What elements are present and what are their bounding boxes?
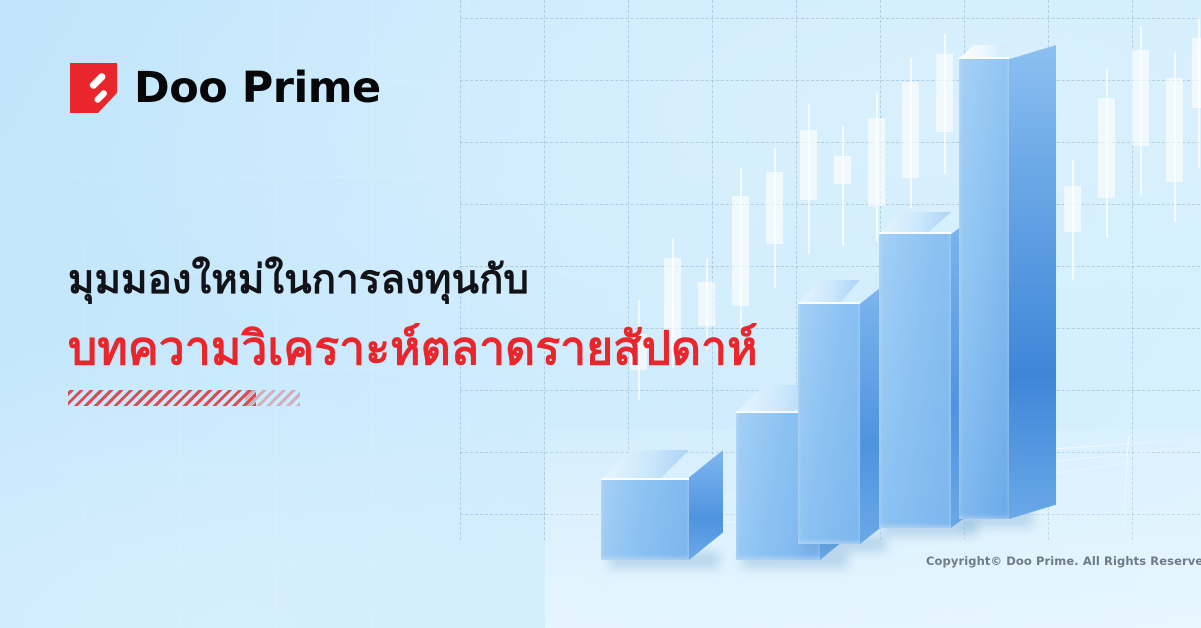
copyright-text: Copyright© Doo Prime. All Rights Reserve… [926,554,1201,568]
logo-wordmark: Doo Prime [134,67,381,110]
doo-prime-banner: Doo Prime มุมมองใหม่ในการลงทุนกับ บทความ… [0,0,1201,628]
bar-3 [798,302,860,544]
diagonal-stripe-rule [68,390,256,406]
bar-5 [959,57,1009,519]
logo[interactable]: Doo Prime [70,63,381,113]
headline-line-2: บทความวิเคราะห์ตลาดรายสัปดาห์ [68,312,758,385]
bar-4 [879,232,951,528]
doo-prime-logo-mark [70,63,117,113]
headline-line-1: มุมมองใหม่ในการลงทุนกับ [68,247,529,311]
bar-1 [601,478,689,560]
diagonal-stripe-rule-fade [245,390,300,406]
